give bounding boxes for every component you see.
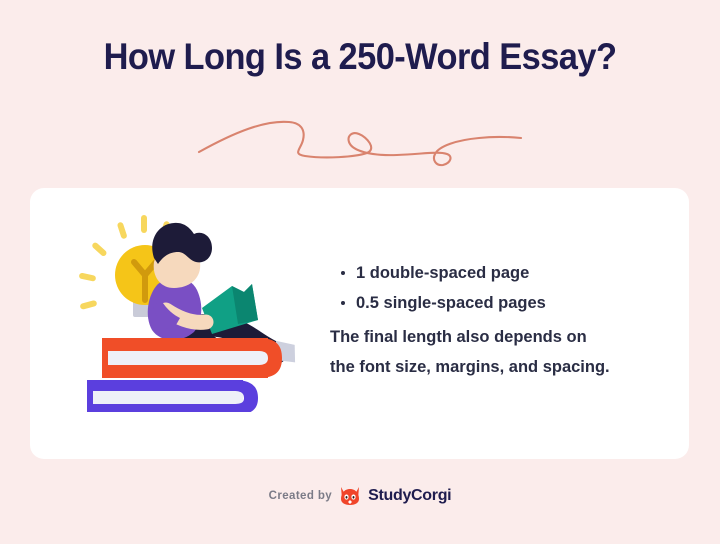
facts-list: 1 double-spaced page 0.5 single-spaced p… [330, 258, 660, 318]
list-item-label: 1 double-spaced page [356, 264, 529, 282]
corgi-logo [339, 486, 361, 506]
book-top [102, 338, 282, 378]
list-item: 0.5 single-spaced pages [330, 288, 660, 318]
illustration-person-reading [62, 212, 312, 412]
decorative-squiggle-icon [195, 108, 525, 170]
created-by-label: Created by [269, 490, 332, 502]
bullet-dot-icon [341, 271, 345, 275]
brand-name: StudyCorgi [368, 487, 451, 505]
list-item-label: 0.5 single-spaced pages [356, 294, 546, 312]
infographic-poster: How Long Is a 250-Word Essay? [0, 0, 720, 544]
note-line-2: the font size, margins, and spacing. [330, 352, 650, 382]
footer-credit: Created by StudyCorgi [0, 486, 720, 506]
book-bottom [87, 380, 258, 412]
page-title: How Long Is a 250-Word Essay? [25, 36, 695, 78]
text-content: 1 double-spaced page 0.5 single-spaced p… [330, 258, 660, 382]
note-text: The final length also depends on the fon… [330, 322, 650, 382]
list-item: 1 double-spaced page [330, 258, 660, 288]
bullet-dot-icon [341, 301, 345, 305]
note-line-1: The final length also depends on [330, 322, 650, 352]
